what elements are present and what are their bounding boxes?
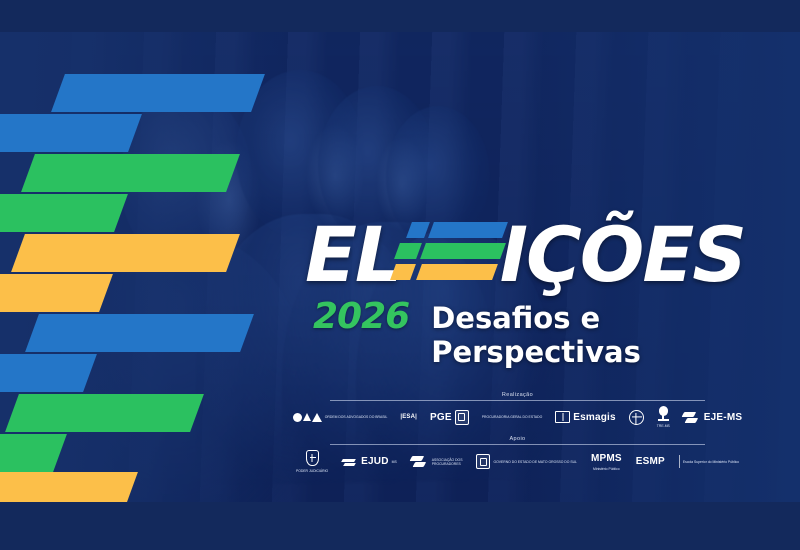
esmp-full-logo[interactable]: Escola Superior do Ministério Público xyxy=(679,455,739,468)
decor-bar-4 xyxy=(11,234,240,272)
pge-logo[interactable]: PGE xyxy=(430,410,469,425)
decor-bar-7 xyxy=(0,354,97,392)
judiciary-shield-icon xyxy=(306,450,319,466)
ejud-swoosh-icon xyxy=(342,456,358,467)
eje-ms-label: EJE-MS xyxy=(704,412,742,423)
tre-ms-mark-icon xyxy=(657,406,670,421)
mpms-sublabel: Ministério Público xyxy=(593,467,620,471)
decor-bar-6 xyxy=(25,314,254,352)
e-bar-yellow-small xyxy=(390,264,416,280)
ejud-label: EJUD xyxy=(361,456,388,467)
estado-ms-sublabel: GOVERNO DO ESTADO DE MATO GROSSO DO SUL xyxy=(493,460,576,464)
pge-crest-icon xyxy=(455,410,469,425)
associacao-procuradores-logo[interactable]: ASSOCIAÇÃO DOS PROCURADORES xyxy=(411,455,463,468)
decor-bar-5 xyxy=(0,274,113,312)
esa-logo[interactable]: |ESA| xyxy=(400,414,417,420)
event-logo: EL IÇÕES 2026 Desafios e Perspectivas xyxy=(305,212,745,369)
e-bar-yellow-main xyxy=(416,264,498,280)
poder-judiciario-sublabel: PODER JUDICIÁRIO xyxy=(296,469,328,473)
esmp-divider xyxy=(679,455,680,468)
associacao-procuradores-label: ASSOCIAÇÃO DOS PROCURADORES xyxy=(432,458,463,466)
event-wordmark: EL IÇÕES xyxy=(305,212,745,298)
top-band xyxy=(0,0,800,32)
oab-sublabel: ORDEM DOS ADVOGADOS DO BRASIL xyxy=(325,415,388,419)
esa-label: |ESA| xyxy=(400,414,417,420)
pge-ms-logo[interactable]: PROCURADORIA GERAL DO ESTADO xyxy=(482,415,542,419)
esmp-full-label: Escola Superior do Ministério Público xyxy=(683,460,739,464)
decor-bar-2 xyxy=(21,154,240,192)
decor-bar-0 xyxy=(51,74,265,112)
mpms-logo[interactable]: MPMS Ministério Público xyxy=(591,453,622,471)
eje-ms-logo[interactable]: EJE-MS xyxy=(683,411,742,424)
striped-e-mark-icon xyxy=(405,212,497,298)
decorative-bar-stack xyxy=(0,32,300,502)
tre-ms-label: TRE-MS xyxy=(657,424,670,428)
event-tagline: Desafios e Perspectivas xyxy=(431,301,745,369)
realizacao-label: Realização xyxy=(330,392,705,398)
tjms-logo[interactable] xyxy=(629,410,644,425)
esmp-label: ESMP xyxy=(636,456,665,467)
wordmark-right: IÇÕES xyxy=(500,217,745,293)
wordmark-left: EL xyxy=(305,217,401,293)
pge-ms-sublabel: PROCURADORIA GERAL DO ESTADO xyxy=(482,415,542,419)
ejud-suffix: MS xyxy=(392,460,397,464)
apoio-logo-row: PODER JUDICIÁRIO EJUD MS ASSOCIAÇÃO DOS … xyxy=(330,445,705,477)
pge-label: PGE xyxy=(430,412,452,423)
decor-bar-8 xyxy=(5,394,204,432)
estado-ms-logo[interactable]: GOVERNO DO ESTADO DE MATO GROSSO DO SUL xyxy=(476,454,576,469)
e-bar-green-small xyxy=(394,243,422,259)
decor-bar-9 xyxy=(0,434,67,472)
apoio-label: Apoio xyxy=(330,436,705,442)
esmagis-book-icon xyxy=(555,411,570,423)
oab-logo[interactable]: ORDEM DOS ADVOGADOS DO BRASIL xyxy=(293,413,388,422)
credits-block: Realização ORDEM DOS ADVOGADOS DO BRASIL… xyxy=(330,392,705,477)
esmagis-logo[interactable]: Esmagis xyxy=(555,411,616,423)
ms-state-crest-icon xyxy=(476,454,490,469)
mpms-label: MPMS xyxy=(591,453,622,464)
oab-mark-icon xyxy=(293,413,322,422)
e-bar-green-main xyxy=(420,243,506,259)
e-bar-blue-main xyxy=(428,222,508,238)
poster-canvas: EL IÇÕES 2026 Desafios e Perspectivas Re… xyxy=(0,0,800,550)
e-bar-blue-small xyxy=(406,222,430,238)
esmp-logo[interactable]: ESMP xyxy=(636,456,665,467)
apms-mark-icon xyxy=(411,455,429,468)
decor-bar-1 xyxy=(0,114,142,152)
eje-ms-swoosh-icon xyxy=(683,411,701,424)
poder-judiciario-logo[interactable]: PODER JUDICIÁRIO xyxy=(296,450,328,473)
bottom-band xyxy=(0,502,800,550)
esmagis-label: Esmagis xyxy=(573,412,616,423)
logo-subline: 2026 Desafios e Perspectivas xyxy=(305,296,745,369)
event-year: 2026 xyxy=(313,296,409,337)
tre-ms-logo[interactable]: TRE-MS xyxy=(657,406,670,428)
ejud-ms-logo[interactable]: EJUD MS xyxy=(342,456,397,467)
tjms-seal-icon xyxy=(629,410,644,425)
realizacao-logo-row: ORDEM DOS ADVOGADOS DO BRASIL |ESA| PGE … xyxy=(330,401,705,432)
decor-bar-3 xyxy=(0,194,128,232)
